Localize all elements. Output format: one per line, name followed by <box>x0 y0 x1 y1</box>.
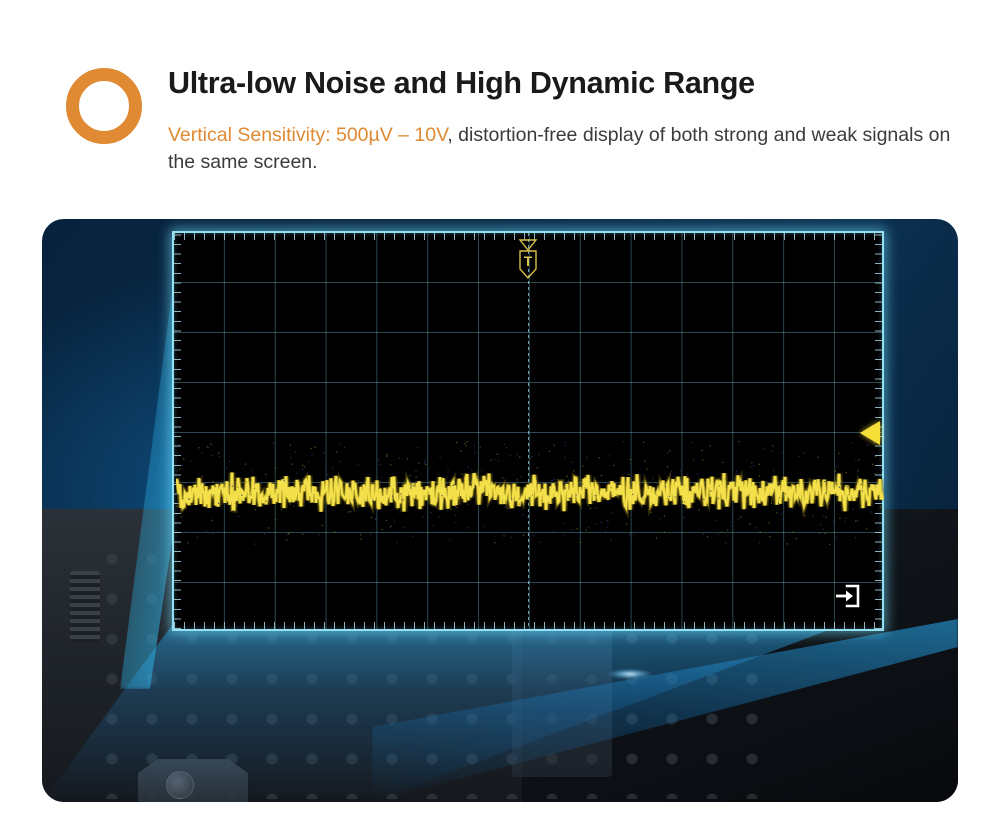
oscilloscope-screen[interactable]: T <box>172 231 884 631</box>
beam-spark <box>607 669 653 679</box>
promo-page: Ultra-low Noise and High Dynamic Range V… <box>0 0 1000 824</box>
orange-ring-icon <box>66 68 142 144</box>
page-title: Ultra-low Noise and High Dynamic Range <box>168 66 755 101</box>
hero-card: USB Device POWER USB-C <box>42 219 958 802</box>
panel-vents <box>70 571 100 643</box>
page-subtitle: Vertical Sensitivity: 500µV – 10V, disto… <box>168 122 968 176</box>
channel-ground-marker[interactable] <box>860 421 880 445</box>
header: Ultra-low Noise and High Dynamic Range V… <box>0 0 1000 210</box>
waveform-trace <box>176 235 884 631</box>
subtitle-highlight: Vertical Sensitivity: 500µV – 10V <box>168 124 447 146</box>
enter-arrow-icon[interactable] <box>834 583 862 609</box>
